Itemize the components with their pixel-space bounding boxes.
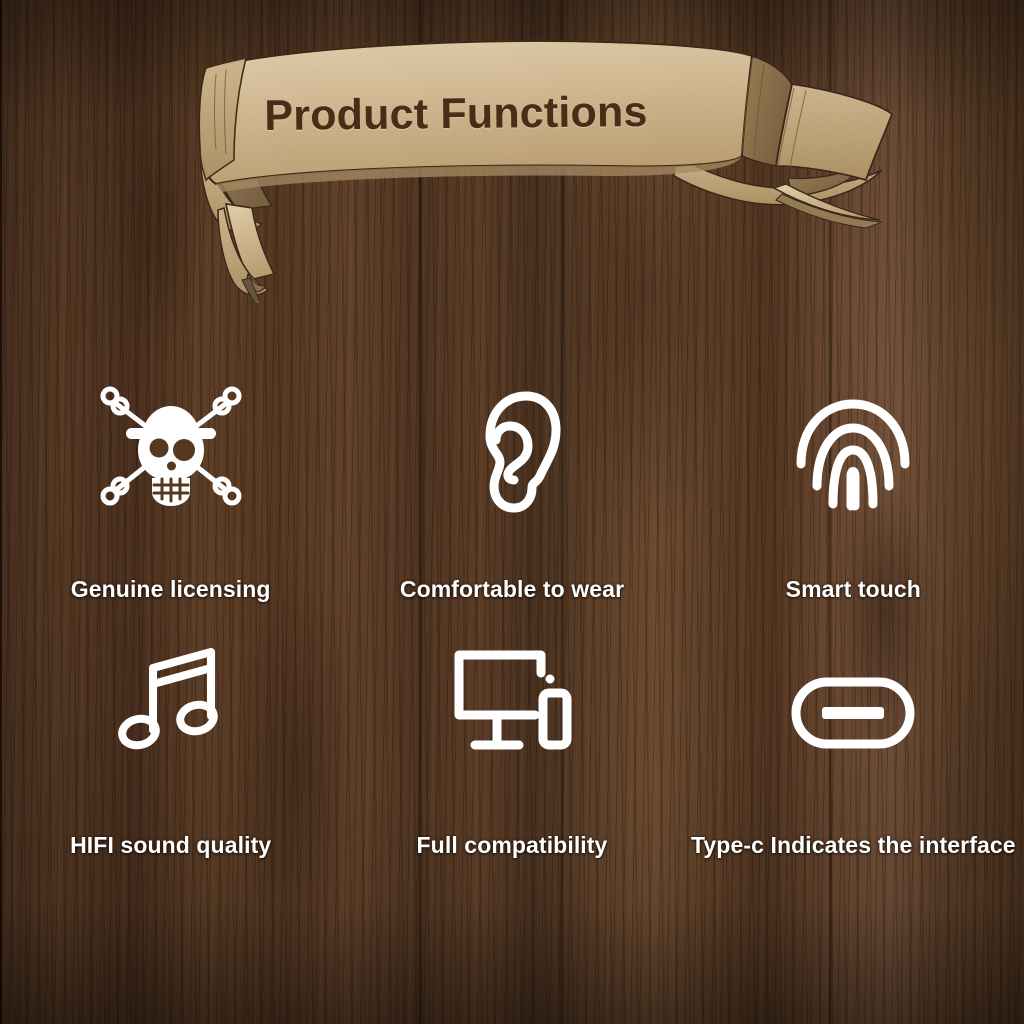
page-title: Product Functions	[176, 87, 736, 142]
feature-row-top: Genuine licensing Comfortable to wear	[0, 372, 1024, 620]
feature-label: Full compatibility	[417, 832, 608, 859]
feature-item-comfortable-to-wear[interactable]: Comfortable to wear	[341, 372, 682, 620]
usb-type-c-port-icon	[788, 628, 918, 758]
feature-item-hifi-sound-quality[interactable]: HIFI sound quality	[0, 628, 341, 868]
skull-crossbones-straw-hat-icon	[96, 372, 246, 514]
feature-label: HIFI sound quality	[70, 832, 271, 859]
feature-item-smart-touch[interactable]: Smart touch	[683, 372, 1024, 620]
feature-label: Genuine licensing	[71, 576, 271, 603]
ribbon-banner: Product Functions	[176, 28, 896, 303]
feature-item-type-c-interface[interactable]: Type-c Indicates the interface	[683, 628, 1024, 868]
feature-row-bottom: HIFI sound quality	[0, 620, 1024, 868]
feature-item-genuine-licensing[interactable]: Genuine licensing	[0, 372, 341, 620]
feature-item-full-compatibility[interactable]: Full compatibility	[341, 628, 682, 868]
feature-label: Comfortable to wear	[400, 576, 624, 603]
product-functions-infographic: Product Functions	[0, 0, 1024, 1024]
feature-label: Smart touch	[786, 576, 921, 603]
feature-label: Type-c Indicates the interface	[691, 832, 1016, 859]
feature-grid: Genuine licensing Comfortable to wear	[0, 372, 1024, 868]
fingerprint-icon	[793, 372, 913, 514]
music-note-icon	[111, 628, 231, 758]
monitor-and-phone-icon	[447, 628, 577, 758]
ear-icon	[462, 372, 562, 514]
